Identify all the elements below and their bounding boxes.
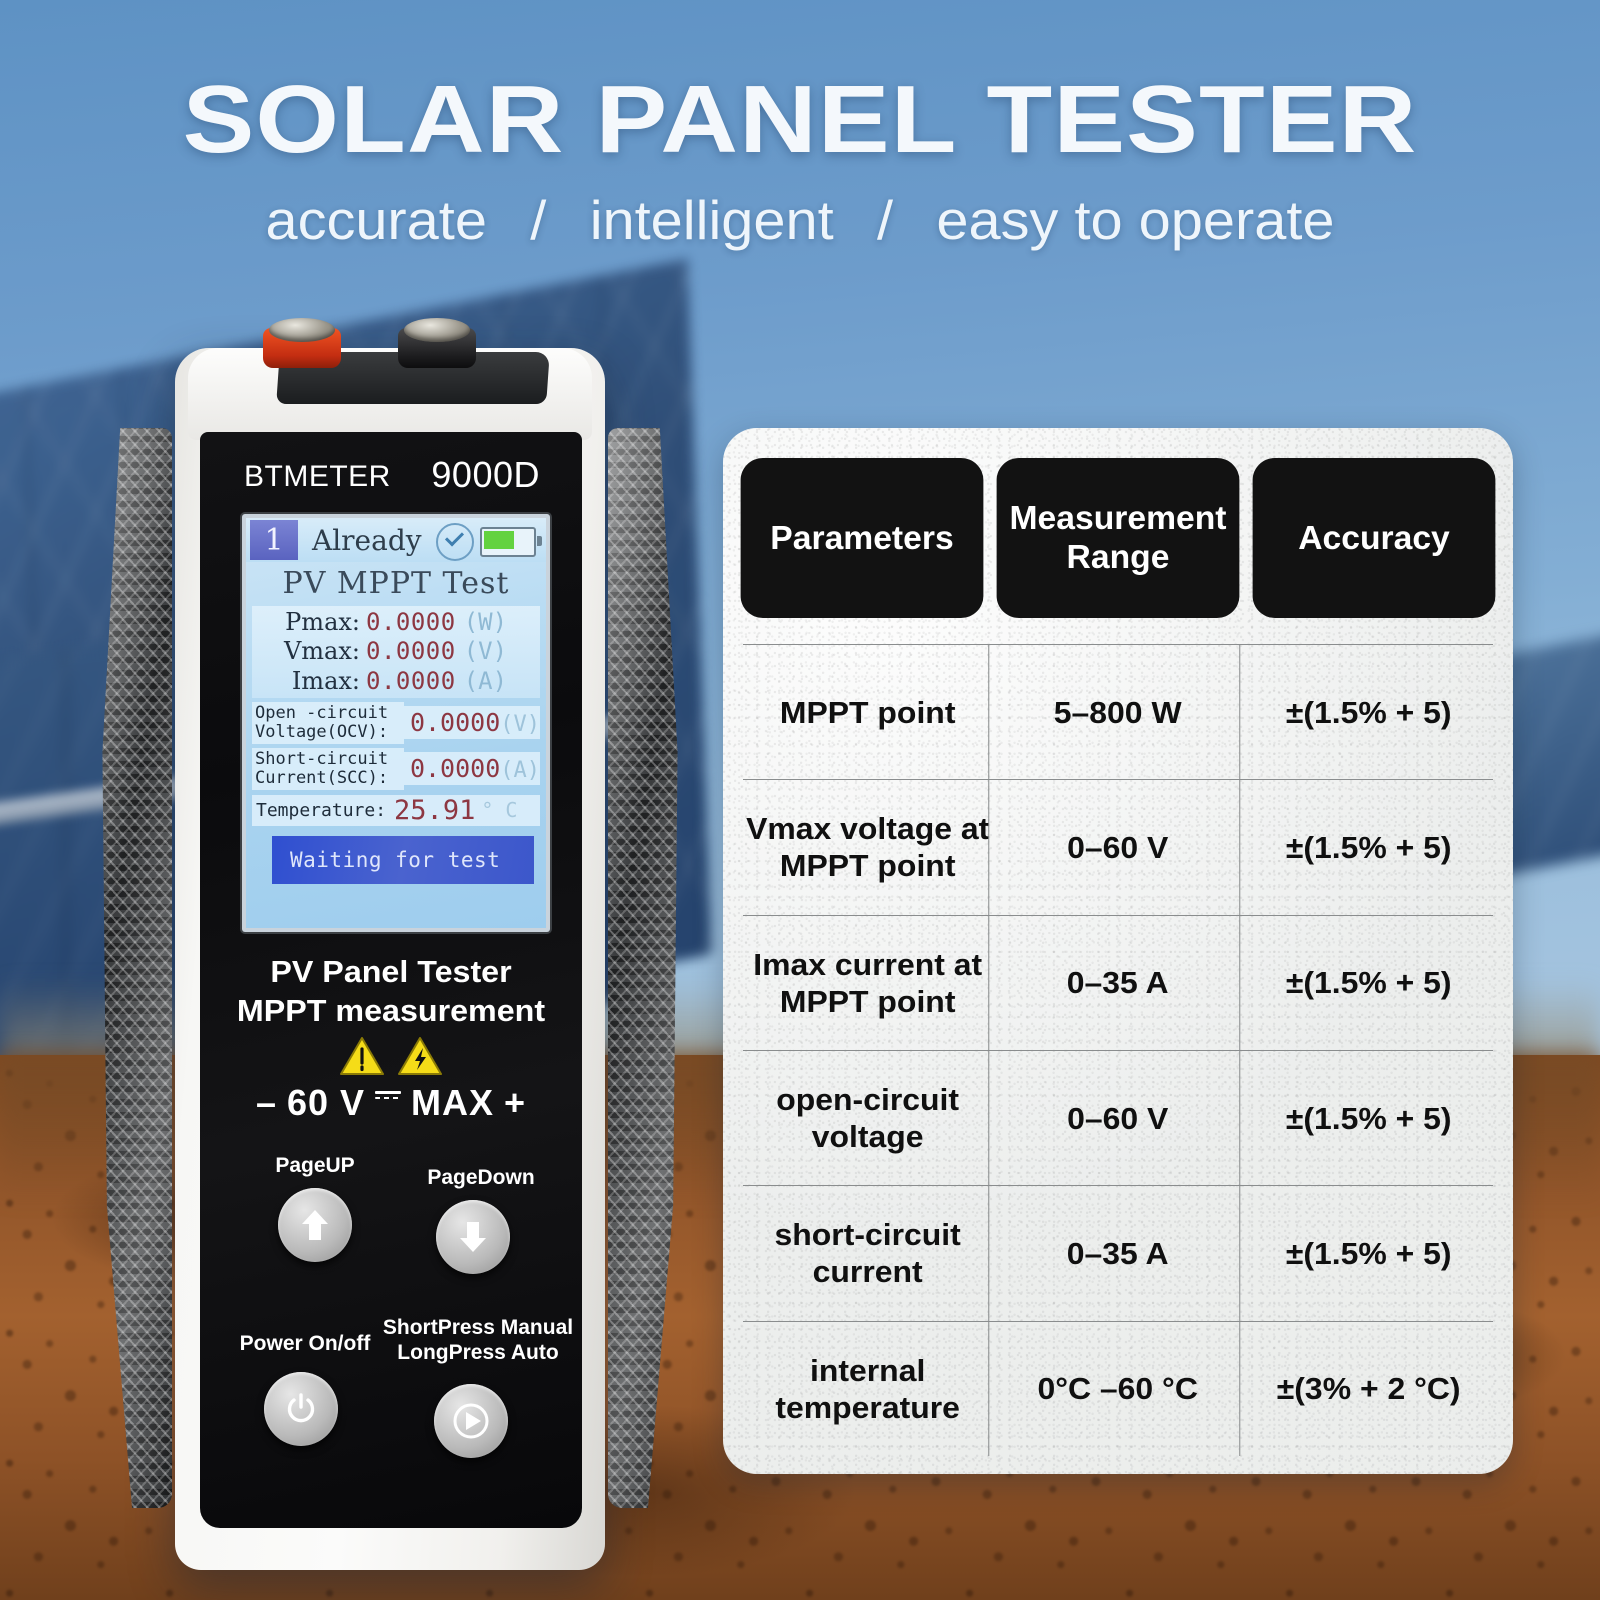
specification-table: Parameters Measurement Range Accuracy MP… xyxy=(723,428,1513,1474)
scc-label-line1: Short-circuit xyxy=(255,750,401,769)
max-voltage-value: 60 V xyxy=(287,1082,365,1124)
ocv-label-line1: Open -circuit xyxy=(255,704,401,723)
pmax-unit: (W) xyxy=(464,608,507,637)
run-button[interactable] xyxy=(434,1384,508,1458)
arrow-up-icon xyxy=(300,1208,330,1242)
lcd-screen: 1 Already PV MPPT Test Pmax: 0.0000 (W) xyxy=(246,518,546,928)
ocv-value: 0.0000 xyxy=(410,708,500,737)
table-row: internal temperature 0°C –60 °C ±(3% + 2… xyxy=(743,1321,1493,1456)
page-subtitle: accurate / intelligent / easy to operate xyxy=(0,188,1600,252)
subtitle-separator-2: / xyxy=(850,188,921,252)
subtitle-part-2: intelligent xyxy=(590,189,834,251)
table-body: MPPT point 5–800 W ±(1.5% + 5) Vmax volt… xyxy=(723,644,1513,1474)
lcd-bezel: 1 Already PV MPPT Test Pmax: 0.0000 (W) xyxy=(242,514,550,932)
temperature-unit: ° C xyxy=(475,798,517,822)
lcd-row-ocv: Open -circuit Voltage(OCV): 0.0000(V) xyxy=(252,702,540,744)
column-header-accuracy: Accuracy xyxy=(1253,458,1496,618)
scc-label-line2: Current(SCC): xyxy=(255,769,401,788)
scc-value-cell: 0.0000(A) xyxy=(404,752,540,785)
cell-range: 0°C –60 °C xyxy=(989,1322,1247,1456)
lcd-row-imax: Imax: 0.0000 (A) xyxy=(252,667,540,696)
plus-terminal-symbol: + xyxy=(504,1082,526,1124)
imax-label: Imax: xyxy=(252,667,366,696)
solar-panel-tester-device: BTMETER 9000D 1 Already PV MPPT Test Pma… xyxy=(80,300,700,1580)
specification-table-panel: Parameters Measurement Range Accuracy MP… xyxy=(723,428,1513,1474)
warning-icons-group xyxy=(200,1036,582,1076)
ocv-label-line2: Voltage(OCV): xyxy=(255,723,401,742)
cell-parameter: MPPT point xyxy=(739,645,996,779)
pageup-button[interactable] xyxy=(278,1188,352,1262)
temperature-label: Temperature: xyxy=(252,798,390,823)
table-row: MPPT point 5–800 W ±(1.5% + 5) xyxy=(743,644,1493,779)
cell-range: 0–60 V xyxy=(989,1051,1247,1185)
grip-sheen-right xyxy=(608,428,682,1508)
imax-value: 0.0000 xyxy=(366,667,456,696)
cell-parameter: Imax current at MPPT point xyxy=(739,916,996,1050)
column-header-parameters: Parameters xyxy=(741,458,984,618)
vmax-value: 0.0000 xyxy=(366,637,456,666)
ocv-unit: (V) xyxy=(500,712,540,737)
device-faceplate: BTMETER 9000D 1 Already PV MPPT Test Pma… xyxy=(200,432,582,1528)
model-label: 9000D xyxy=(431,454,540,496)
lcd-status-text: Already xyxy=(312,524,422,557)
lcd-row-temperature: Temperature: 25.91 ° C xyxy=(252,795,540,826)
subtitle-part-3: easy to operate xyxy=(936,189,1334,251)
cell-range: 0–35 A xyxy=(989,1186,1247,1320)
terminal-jack-positive-red[interactable] xyxy=(263,318,341,364)
max-label: MAX xyxy=(411,1082,494,1124)
lcd-status-bar: 1 Already xyxy=(246,518,546,562)
imax-unit: (A) xyxy=(464,667,507,696)
temperature-value: 25.91 xyxy=(390,795,475,826)
carbon-grip-right xyxy=(608,428,682,1508)
column-header-measurement-range: Measurement Range xyxy=(997,458,1240,618)
cell-parameter: short-circuit current xyxy=(739,1186,996,1320)
arrow-down-icon xyxy=(458,1220,488,1254)
lcd-row-scc: Short-circuit Current(SCC): 0.0000(A) xyxy=(252,748,540,790)
grip-sheen-left xyxy=(98,428,172,1508)
cell-accuracy: ±(3% + 2 °C) xyxy=(1239,1322,1497,1456)
pageup-button-label: PageUP xyxy=(240,1154,390,1179)
device-title-line1: PV Panel Tester xyxy=(192,952,589,991)
scc-label: Short-circuit Current(SCC): xyxy=(252,748,404,790)
run-label-line2: LongPress Auto xyxy=(378,1341,578,1366)
run-button-label: ShortPress Manual LongPress Auto xyxy=(378,1316,578,1366)
pmax-value: 0.0000 xyxy=(366,608,456,637)
cell-parameter: Vmax voltage at MPPT point xyxy=(739,780,996,914)
jack-red-metal-ring xyxy=(269,318,335,342)
brand-label: BTMETER xyxy=(244,460,391,494)
vmax-unit: (V) xyxy=(464,637,507,666)
cell-range: 0–60 V xyxy=(989,780,1247,914)
minus-terminal-symbol: – xyxy=(256,1082,277,1124)
ocv-value-cell: 0.0000(V) xyxy=(404,706,540,739)
cell-accuracy: ±(1.5% + 5) xyxy=(1239,916,1497,1050)
lcd-screen-title: PV MPPT Test xyxy=(246,562,546,603)
play-icon xyxy=(451,1401,491,1441)
cell-range: 5–800 W xyxy=(989,645,1247,779)
lcd-row-vmax: Vmax: 0.0000 (V) xyxy=(252,637,540,666)
cell-accuracy: ±(1.5% + 5) xyxy=(1239,780,1497,914)
pagedown-button-label: PageDown xyxy=(396,1166,566,1191)
subtitle-part-1: accurate xyxy=(265,189,487,251)
lcd-page-badge: 1 xyxy=(250,520,298,560)
cell-parameter: internal temperature xyxy=(739,1322,996,1456)
device-function-title: PV Panel Tester MPPT measurement xyxy=(192,952,589,1030)
scc-unit: (A) xyxy=(500,758,540,783)
jack-black-metal-ring xyxy=(404,318,470,342)
cell-accuracy: ±(1.5% + 5) xyxy=(1239,645,1497,779)
cell-range: 0–35 A xyxy=(989,916,1247,1050)
battery-icon xyxy=(480,527,536,557)
cell-accuracy: ±(1.5% + 5) xyxy=(1239,1186,1497,1320)
carbon-grip-left xyxy=(98,428,172,1508)
high-voltage-icon xyxy=(398,1036,442,1076)
cell-accuracy: ±(1.5% + 5) xyxy=(1239,1051,1497,1185)
pagedown-button[interactable] xyxy=(436,1200,510,1274)
waiting-banner-text: Waiting for test xyxy=(272,848,500,872)
vmax-label: Vmax: xyxy=(252,637,366,666)
device-title-line2: MPPT measurement xyxy=(192,991,589,1030)
check-circle-icon xyxy=(436,523,474,561)
warning-triangle-icon xyxy=(340,1036,384,1076)
ocv-label: Open -circuit Voltage(OCV): xyxy=(252,702,404,744)
battery-fill xyxy=(484,531,514,549)
page-title: SOLAR PANEL TESTER xyxy=(0,72,1600,168)
run-label-line1: ShortPress Manual xyxy=(378,1316,578,1341)
table-row: Vmax voltage at MPPT point 0–60 V ±(1.5%… xyxy=(743,779,1493,914)
power-button-label: Power On/off xyxy=(216,1332,394,1357)
scc-value: 0.0000 xyxy=(410,754,500,783)
cell-parameter: open-circuit voltage xyxy=(739,1051,996,1185)
lcd-row-pmax: Pmax: 0.0000 (W) xyxy=(252,608,540,637)
subtitle-separator-1: / xyxy=(503,188,574,252)
table-row: open-circuit voltage 0–60 V ±(1.5% + 5) xyxy=(743,1050,1493,1185)
dc-current-icon xyxy=(375,1091,401,1111)
lcd-mppt-block: Pmax: 0.0000 (W) Vmax: 0.0000 (V) Imax: … xyxy=(252,606,540,698)
power-button[interactable] xyxy=(264,1372,338,1446)
power-icon xyxy=(284,1392,318,1426)
table-row: Imax current at MPPT point 0–35 A ±(1.5%… xyxy=(743,915,1493,1050)
lcd-waiting-banner: Waiting for test xyxy=(272,836,534,884)
terminal-jack-negative-black[interactable] xyxy=(398,318,476,364)
pmax-label: Pmax: xyxy=(252,608,366,637)
voltage-rating-label: – 60 V MAX + xyxy=(200,1082,582,1124)
table-header-row: Parameters Measurement Range Accuracy xyxy=(723,428,1513,644)
table-row: short-circuit current 0–35 A ±(1.5% + 5) xyxy=(743,1185,1493,1320)
